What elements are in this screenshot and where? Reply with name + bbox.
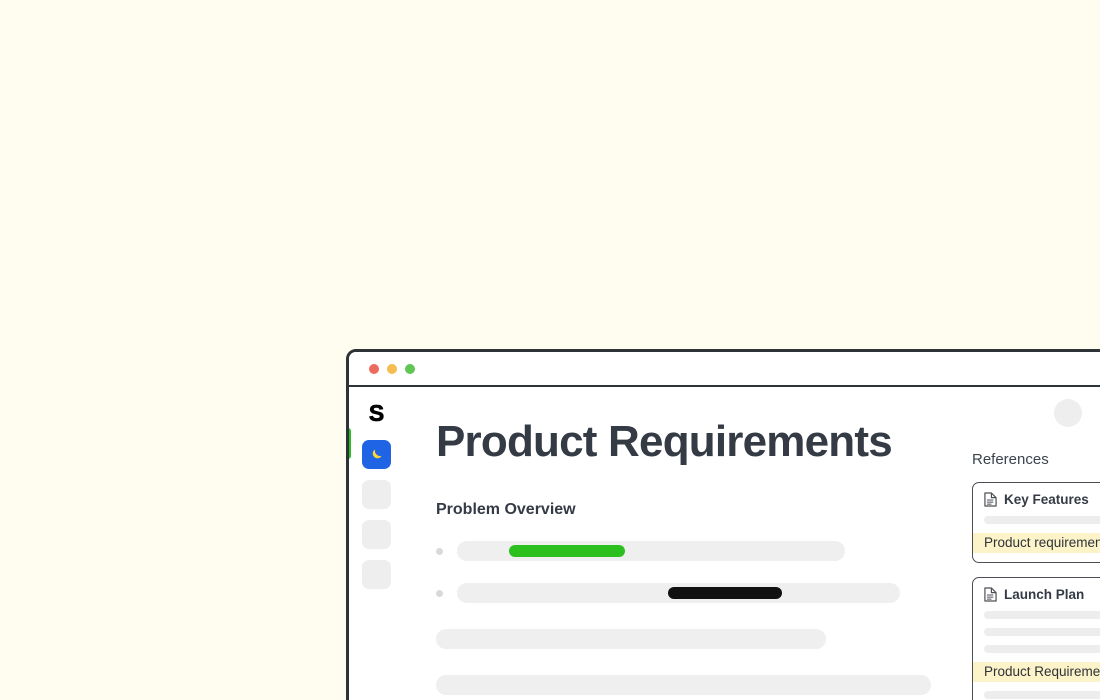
s-logo-icon[interactable]: S	[363, 399, 391, 427]
bullet-icon	[436, 590, 443, 597]
skeleton-line	[457, 583, 900, 603]
section-heading: Problem Overview	[436, 501, 900, 519]
minimize-button[interactable]	[387, 364, 397, 374]
reference-card-title: Launch Plan	[1004, 587, 1084, 602]
references-panel: References Key Features Product requirem…	[948, 387, 1100, 700]
window-body: S Product Requirements Problem Overview	[349, 387, 1100, 700]
sidebar-item-3[interactable]	[362, 520, 391, 549]
reference-card-title: Key Features	[1004, 492, 1089, 507]
sidebar-item-4[interactable]	[362, 560, 391, 589]
sidebar-active-indicator	[346, 428, 351, 459]
window-titlebar	[349, 352, 1100, 387]
reference-highlight-text: Product Requirements	[973, 662, 1100, 682]
list-item[interactable]	[436, 583, 900, 603]
skeleton-line	[436, 675, 931, 695]
reference-card-key-features[interactable]: Key Features Product requirements	[972, 482, 1100, 563]
moon-icon	[369, 447, 384, 462]
page-title: Product Requirements	[436, 419, 900, 465]
reference-card-header: Launch Plan	[984, 587, 1100, 602]
sidebar-item-active[interactable]	[362, 440, 391, 469]
sidebar: S	[349, 387, 404, 700]
skeleton-line	[984, 645, 1100, 653]
bullet-icon	[436, 548, 443, 555]
skeleton-line	[984, 691, 1100, 699]
highlight-bar-black	[668, 587, 782, 599]
skeleton-line	[436, 629, 826, 649]
skeleton-line	[457, 541, 845, 561]
reference-highlight-text: Product requirements	[973, 533, 1100, 553]
reference-card-header: Key Features	[984, 492, 1100, 507]
references-heading: References	[972, 451, 1100, 468]
maximize-button[interactable]	[405, 364, 415, 374]
app-window: S Product Requirements Problem Overview	[346, 349, 1100, 700]
skeleton-line	[984, 611, 1100, 619]
file-icon	[984, 492, 997, 507]
avatar[interactable]	[1054, 399, 1082, 427]
skeleton-line	[984, 628, 1100, 636]
file-icon	[984, 587, 997, 602]
skeleton-line	[984, 516, 1100, 524]
highlight-bar-green	[509, 545, 625, 557]
close-button[interactable]	[369, 364, 379, 374]
list-item[interactable]	[436, 541, 900, 561]
reference-card-launch-plan[interactable]: Launch Plan Product Requirements	[972, 577, 1100, 700]
sidebar-item-2[interactable]	[362, 480, 391, 509]
document-column: Product Requirements Problem Overview	[404, 387, 948, 700]
